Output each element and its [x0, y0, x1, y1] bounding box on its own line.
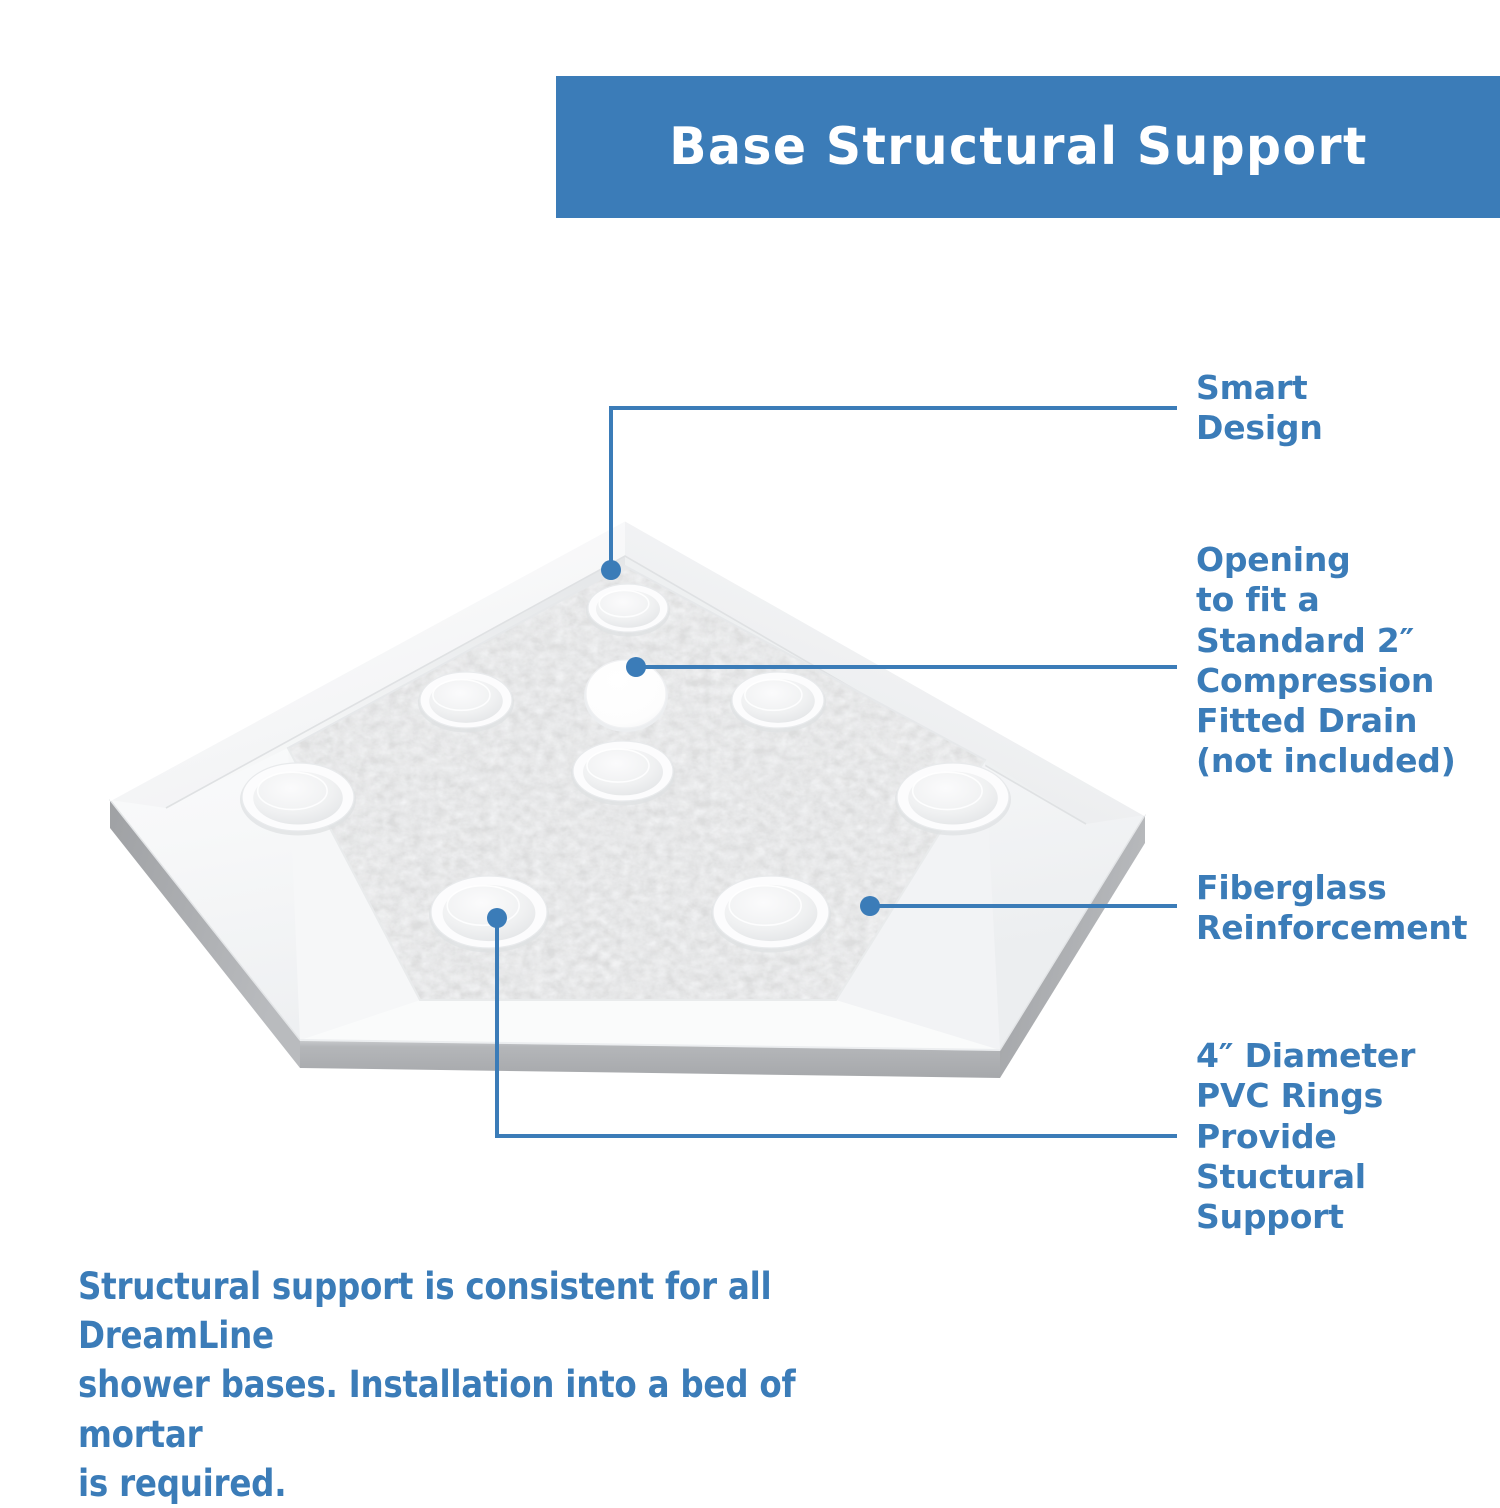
footer-caption: Structural support is consistent for all…	[78, 1262, 905, 1508]
leader-dot-fiberglass	[860, 896, 880, 916]
pvc-ring-group	[240, 584, 1011, 953]
pvc-ring	[571, 741, 675, 806]
base-threshold-rim	[110, 520, 1145, 824]
leader-dot-smart-design	[601, 560, 621, 580]
pvc-ring	[730, 672, 826, 733]
callout-label-fiberglass: Fiberglass Reinforcement	[1196, 868, 1467, 949]
pvc-ring	[429, 876, 549, 953]
header-banner: Base Structural Support	[556, 76, 1500, 218]
pvc-ring	[418, 672, 514, 733]
leader-line-smart-design	[601, 408, 1175, 580]
callout-label-smart-design: Smart Design	[1196, 368, 1323, 449]
base-top-deck	[110, 520, 1145, 1050]
leader-line-fiberglass	[860, 896, 1175, 916]
pvc-ring	[240, 763, 356, 836]
drain-opening	[584, 660, 668, 732]
page-title: Base Structural Support	[670, 121, 1368, 173]
base-front-ledge	[288, 748, 1000, 1050]
leader-line-group	[487, 408, 1175, 1136]
leader-line-pvc-rings	[487, 908, 1175, 1136]
pvc-ring	[711, 876, 831, 953]
callout-label-drain-opening: Opening to fit a Standard 2″ Compression…	[1196, 540, 1456, 782]
leader-dot-pvc-rings	[487, 908, 507, 928]
base-slab-side	[110, 800, 1145, 1078]
pvc-ring	[586, 584, 670, 637]
base-textured-floor	[280, 555, 995, 1010]
callout-label-pvc-rings: 4″ Diameter PVC Rings Provide Stuctural …	[1196, 1036, 1415, 1237]
leader-dot-drain-opening	[626, 657, 646, 677]
pvc-ring	[895, 763, 1011, 836]
leader-line-drain-opening	[626, 657, 1175, 677]
